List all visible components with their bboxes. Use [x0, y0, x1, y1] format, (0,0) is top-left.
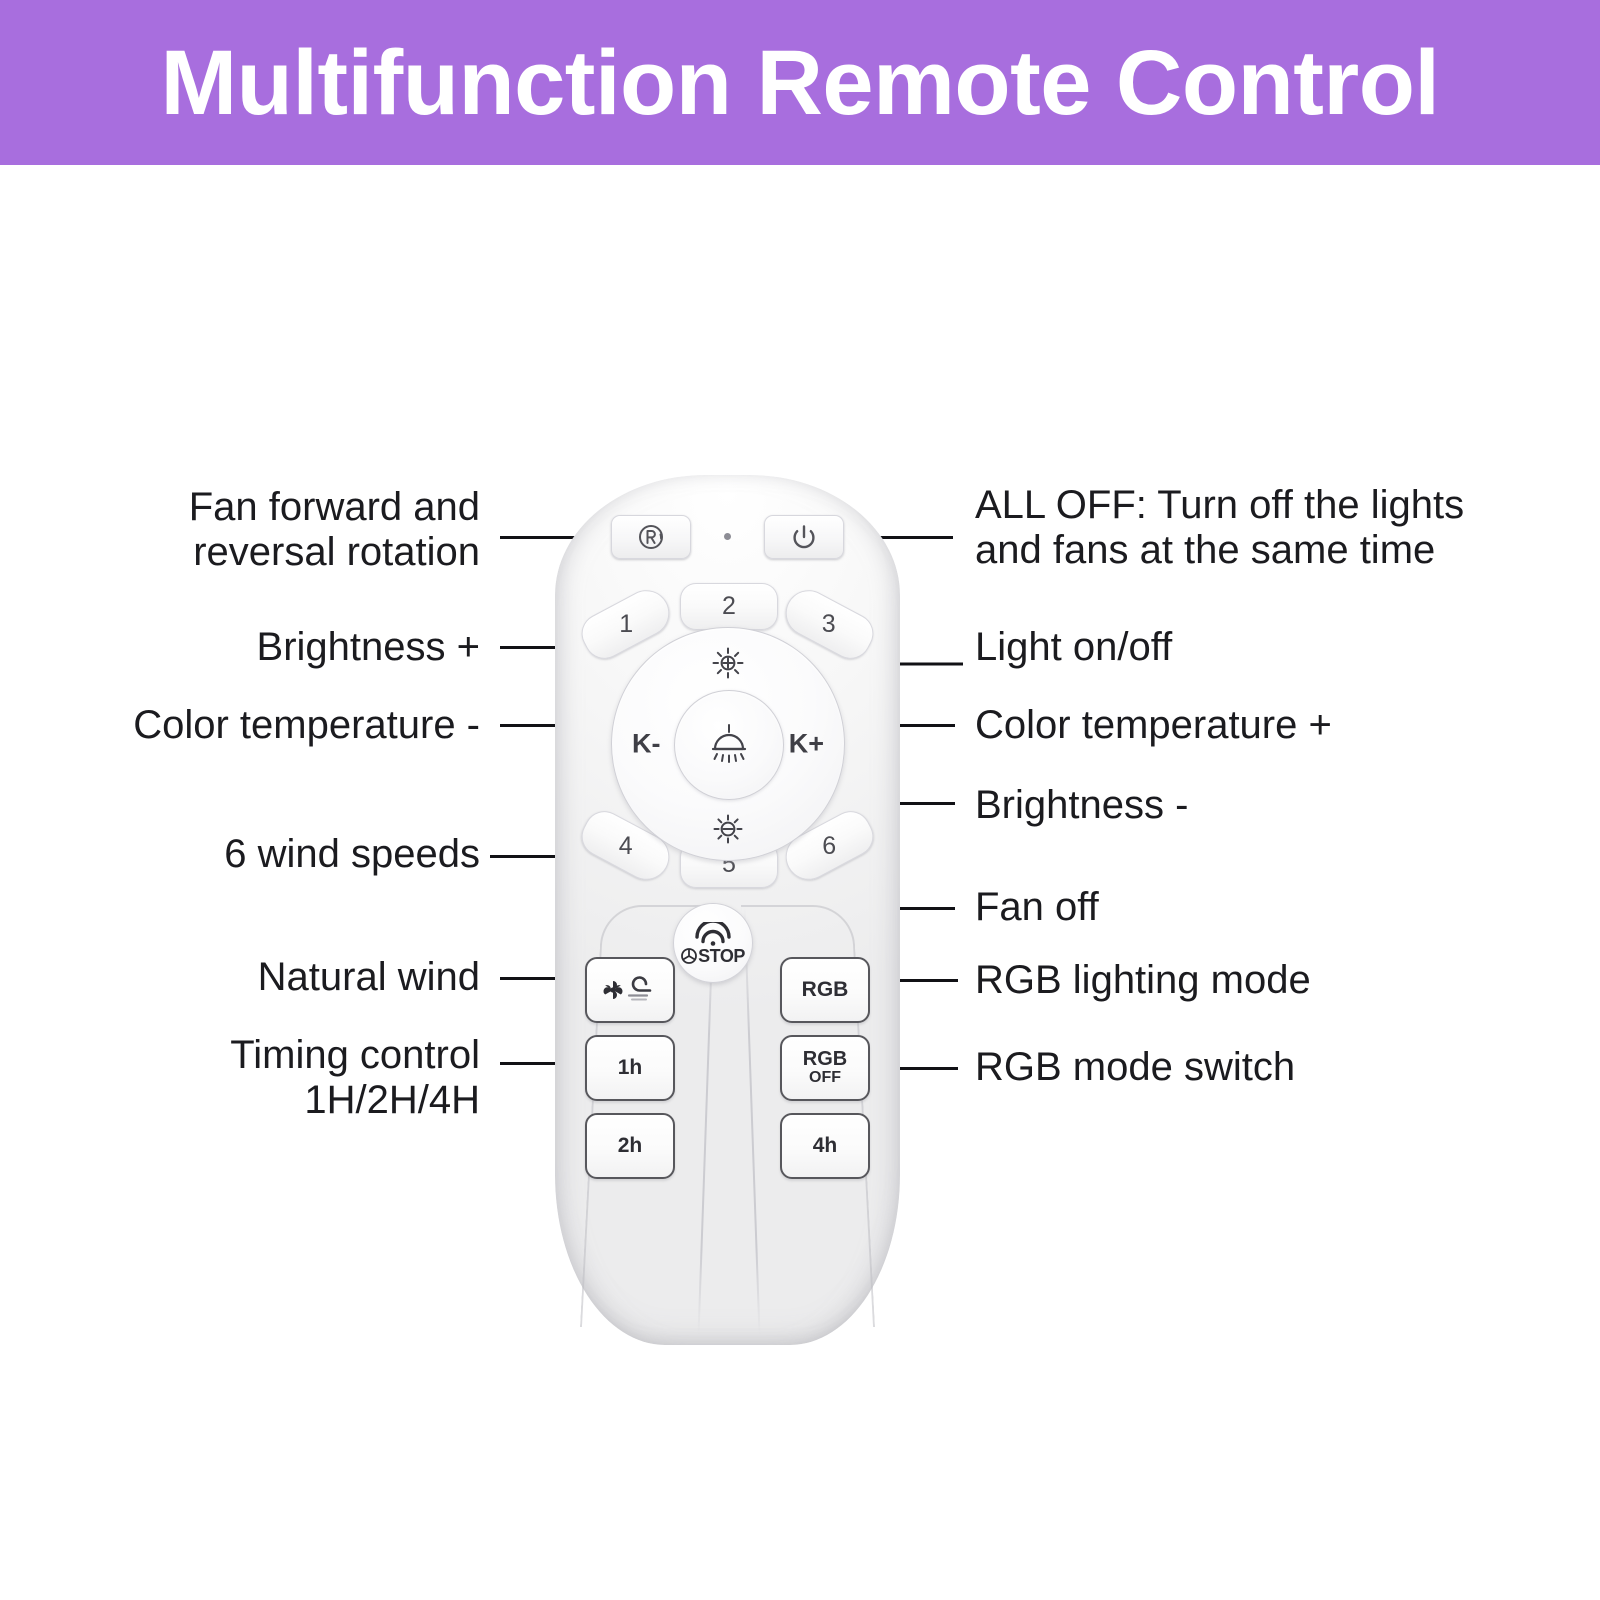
fan-stop-text: STOP [681, 947, 745, 965]
callout-fan-off: Fan off [975, 885, 1495, 930]
callout-color-temp-down: Color temperature - [80, 703, 480, 748]
timer-1h-button[interactable]: 1h [585, 1035, 675, 1101]
callout-rgb-mode-switch: RGB mode switch [975, 1045, 1495, 1090]
callout-brightness-up: Brightness + [140, 625, 480, 670]
fan-off-stop-button[interactable]: STOP [673, 903, 753, 983]
sun-minus-icon [711, 812, 745, 846]
remote-control-device: 1 2 3 4 5 6 [555, 475, 900, 1345]
callout-brightness-down: Brightness - [975, 783, 1495, 828]
page-title: Multifunction Remote Control [161, 37, 1440, 129]
natural-wind-button[interactable] [585, 957, 675, 1023]
rgb-mode-button[interactable]: RGB [780, 957, 870, 1023]
rgb-off-label-line2: OFF [809, 1070, 841, 1087]
timer-4h-button[interactable]: 4h [780, 1113, 870, 1179]
fan-reverse-button[interactable] [611, 515, 691, 559]
fan-speed-label-2: 2 [722, 592, 736, 621]
brightness-up-button[interactable] [711, 646, 745, 680]
fan-speed-button-2[interactable]: 2 [680, 583, 778, 630]
timer-2h-label: 2h [618, 1134, 643, 1158]
fan-wave-icon [692, 922, 734, 946]
all-off-power-button[interactable] [764, 515, 844, 559]
timer-4h-label: 4h [813, 1134, 838, 1158]
callout-rgb-lighting-mode: RGB lighting mode [975, 958, 1495, 1003]
rgb-off-label-line1: RGB [803, 1049, 847, 1070]
fan-speed-label-4: 4 [619, 832, 633, 861]
fan-speed-label-1: 1 [619, 610, 633, 639]
color-temp-up-button[interactable]: K+ [789, 729, 824, 760]
color-temp-down-label: K- [632, 729, 661, 760]
light-control-dial[interactable]: K- K+ [611, 627, 845, 861]
sun-plus-icon [711, 646, 745, 680]
callout-wind-speeds: 6 wind speeds [140, 832, 480, 877]
ir-led-indicator [724, 533, 731, 540]
ceiling-lamp-icon [702, 718, 756, 772]
rgb-off-button[interactable]: RGB OFF [780, 1035, 870, 1101]
fan-speed-label-3: 3 [822, 610, 836, 639]
callout-timing-control: Timing control 1H/2H/4H [140, 1033, 480, 1123]
page-header: Multifunction Remote Control [0, 0, 1600, 165]
callout-light-on-off: Light on/off [975, 625, 1495, 670]
fan-wind-icon [602, 975, 658, 1005]
power-icon [790, 523, 818, 551]
fan-stop-label: STOP [698, 947, 745, 965]
color-temp-down-button[interactable]: K- [632, 729, 661, 760]
diagram-stage: Fan forward and reversal rotation Bright… [0, 165, 1600, 1600]
fan-blade-icon [681, 948, 697, 964]
callout-color-temp-up: Color temperature + [975, 703, 1495, 748]
color-temp-up-label: K+ [789, 729, 824, 760]
light-on-off-button[interactable] [674, 690, 784, 800]
callout-all-off: ALL OFF: Turn off the lights and fans at… [975, 483, 1555, 573]
brightness-down-button[interactable] [711, 812, 745, 846]
timer-1h-label: 1h [618, 1056, 643, 1080]
callout-fan-rotation: Fan forward and reversal rotation [140, 485, 480, 575]
rgb-label: RGB [802, 978, 849, 1002]
fan-speed-label-6: 6 [822, 832, 836, 861]
timer-2h-button[interactable]: 2h [585, 1113, 675, 1179]
circled-r-icon [636, 522, 666, 552]
callout-natural-wind: Natural wind [140, 955, 480, 1000]
